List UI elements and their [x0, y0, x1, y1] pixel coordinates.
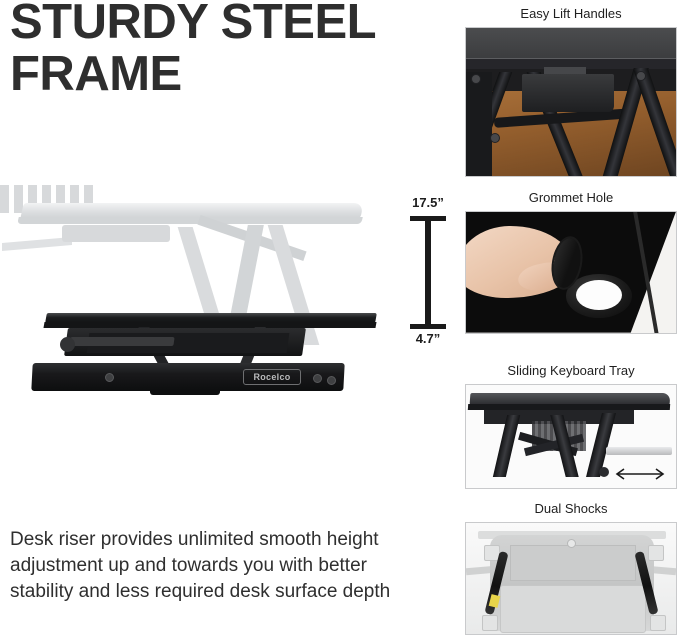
feature-panel-dual-shocks: Dual Shocks [465, 501, 677, 635]
ghost-desktop-edge [17, 217, 363, 224]
mounting-bracket [650, 615, 666, 631]
feature-photo-dual-shocks [465, 522, 677, 635]
screw [471, 74, 481, 84]
feature-photo-grommet-hole [465, 211, 677, 334]
inner-plate [510, 545, 636, 581]
page-title: STURDY STEEL FRAME [10, 0, 440, 101]
feature-label-sliding-keyboard-tray: Sliding Keyboard Tray [465, 363, 677, 379]
feature-label-easy-lift-handles: Easy Lift Handles [465, 6, 677, 22]
base-plate-foot [150, 389, 220, 395]
adjustment-knob [60, 337, 75, 352]
description-text: Desk riser provides unlimited smooth hei… [10, 527, 430, 605]
feature-panel-column: Easy Lift Handles Grommet Hol [465, 0, 679, 635]
max-height-label: 17.5” [400, 195, 456, 210]
tray-knob [599, 467, 609, 477]
dimension-cap-bottom [410, 324, 446, 329]
height-dimension-callout: 17.5” 4.7” [400, 195, 460, 350]
feature-label-dual-shocks: Dual Shocks [465, 501, 677, 517]
feature-photo-easy-lift-handles [465, 27, 677, 177]
dimension-shaft [425, 219, 431, 327]
feature-label-grommet-hole: Grommet Hole [465, 190, 677, 206]
screw [636, 71, 646, 81]
min-height-label: 4.7” [400, 331, 456, 346]
lift-handle [522, 74, 614, 112]
feature-panel-easy-lift-handles: Easy Lift Handles [465, 6, 677, 177]
base-screw [313, 374, 322, 383]
frame-leg [493, 415, 520, 477]
infographic-page: STURDY STEEL FRAME [0, 0, 679, 635]
product-illustration: Rocelco [0, 185, 400, 420]
lower-plate [500, 585, 646, 633]
mounting-bracket [648, 545, 664, 561]
screw [567, 539, 576, 548]
screw [490, 133, 500, 143]
feature-photo-sliding-keyboard-tray [465, 384, 677, 489]
ghost-tray-block [62, 225, 170, 242]
base-screw [105, 373, 114, 382]
feature-panel-sliding-keyboard-tray: Sliding Keyboard Tray [465, 363, 677, 489]
base-screw [327, 376, 336, 385]
keyboard-tray-rail [69, 337, 174, 346]
desktop-surface [466, 28, 676, 58]
grommet-hole-opening [576, 280, 622, 310]
side-panel [466, 72, 492, 177]
left-column: STURDY STEEL FRAME [0, 0, 460, 635]
desktop-surface [470, 393, 671, 405]
sliding-keyboard-tray [606, 447, 672, 455]
brand-logo: Rocelco [243, 369, 301, 385]
mounting-bracket [482, 615, 498, 631]
slide-direction-arrow-icon [612, 467, 668, 481]
feature-panel-grommet-hole: Grommet Hole [465, 190, 677, 334]
